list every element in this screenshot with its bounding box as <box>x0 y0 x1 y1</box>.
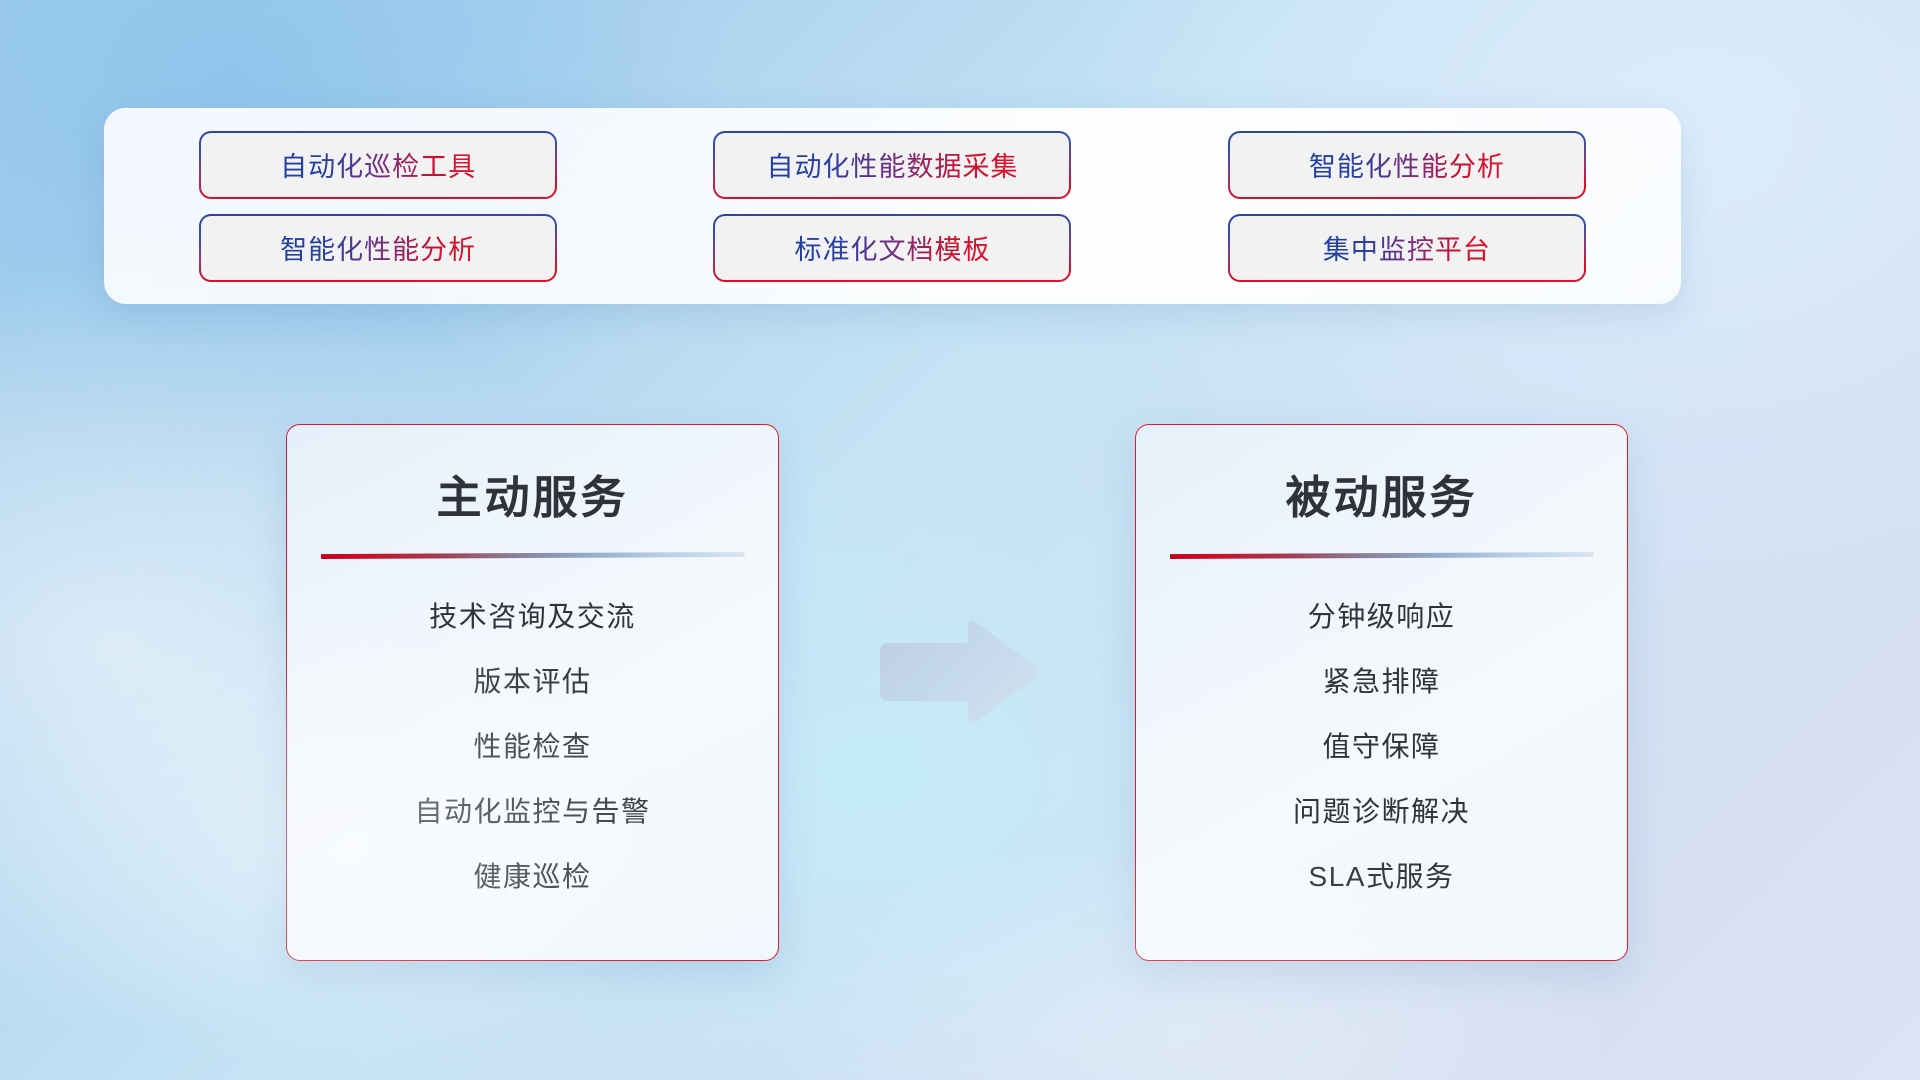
card-item-list: 技术咨询及交流 版本评估 性能检查 自动化监控与告警 健康巡检 <box>287 599 778 894</box>
slide-canvas: 自动化巡检工具 自动化性能数据采集 智能化性能分析 智能化性能分析 标准化文档模… <box>0 0 1920 1080</box>
capability-tag-2[interactable]: 智能化性能分析 <box>1230 133 1584 197</box>
capability-tag-label: 自动化性能数据采集 <box>766 145 1018 184</box>
capability-tag-label: 自动化巡检工具 <box>280 145 476 184</box>
card-title: 主动服务 <box>287 461 778 526</box>
capability-tag-0[interactable]: 自动化巡检工具 <box>201 133 555 197</box>
capability-tag-3[interactable]: 智能化性能分析 <box>201 216 555 280</box>
service-card-passive-service: 被动服务 分钟级响应 紧急排障 值守保障 问题诊断解决 SLA式服务 <box>1135 424 1628 961</box>
card-item: 版本评估 <box>473 664 591 699</box>
card-item: 问题诊断解决 <box>1293 794 1470 829</box>
card-divider <box>1170 552 1594 559</box>
arrow-right-icon <box>874 617 1042 727</box>
card-item: 自动化监控与告警 <box>414 794 650 829</box>
card-item: SLA式服务 <box>1309 859 1455 894</box>
capability-tag-panel: 自动化巡检工具 自动化性能数据采集 智能化性能分析 智能化性能分析 标准化文档模… <box>104 108 1681 304</box>
card-item: 技术咨询及交流 <box>429 599 636 634</box>
card-item: 紧急排障 <box>1322 664 1440 699</box>
card-item-list: 分钟级响应 紧急排障 值守保障 问题诊断解决 SLA式服务 <box>1136 599 1627 894</box>
capability-tag-label: 标准化文档模板 <box>794 228 990 267</box>
capability-tag-5[interactable]: 集中监控平台 <box>1230 216 1584 280</box>
card-divider <box>321 552 745 559</box>
card-item: 性能检查 <box>473 729 591 764</box>
capability-tag-label: 智能化性能分析 <box>280 228 476 267</box>
capability-tag-4[interactable]: 标准化文档模板 <box>715 216 1069 280</box>
card-item: 健康巡检 <box>473 859 591 894</box>
card-item: 分钟级响应 <box>1308 599 1456 634</box>
capability-tag-label: 集中监控平台 <box>1323 228 1491 267</box>
capability-tag-label: 智能化性能分析 <box>1309 145 1505 184</box>
service-card-active-service: 主动服务 技术咨询及交流 版本评估 性能检查 自动化监控与告警 健康巡检 <box>286 424 779 961</box>
card-title: 被动服务 <box>1136 461 1627 526</box>
card-item: 值守保障 <box>1322 729 1440 764</box>
capability-tag-1[interactable]: 自动化性能数据采集 <box>715 133 1069 197</box>
